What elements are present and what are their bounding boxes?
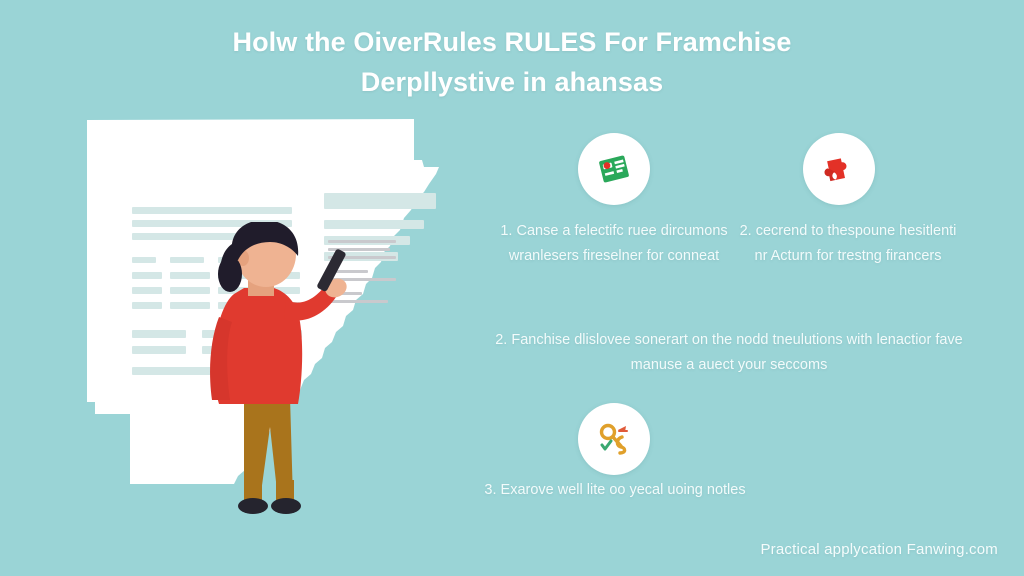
list-item-text: cecrend to thespoune hesitlenti nr Actur… — [755, 223, 957, 264]
puzzle-piece-icon[interactable] — [803, 133, 875, 205]
list-item-text: Exarove well lite oo yecal uoing notles — [501, 482, 746, 498]
list-item-text: Canse a felectifc ruee dircumons wranles… — [509, 223, 728, 264]
list-item: 2. Fanchise dlislovee sonerart on the no… — [494, 328, 964, 378]
list-item-number: 2. — [740, 223, 752, 239]
list-item: 3. Exarove well lite oo yecal uoing notl… — [470, 478, 760, 503]
list-item-number: 2. — [495, 332, 507, 348]
infographic-canvas: Holw the OiverRules RULES For Framchise … — [0, 0, 1024, 576]
list-item: 1. Canse a felectifc ruee dircumons wran… — [494, 219, 734, 269]
list-item-number: 3. — [484, 482, 496, 498]
list-item-number: 1. — [500, 223, 512, 239]
title-line-1: Holw the OiverRules RULES For Framchise — [0, 22, 1024, 62]
document-card-icon[interactable] — [578, 133, 650, 205]
page-title: Holw the OiverRules RULES For Framchise … — [0, 22, 1024, 102]
list-item-text: Fanchise dlislovee sonerart on the nodd … — [511, 332, 962, 373]
title-line-2: Derpllystive in ahansas — [0, 62, 1024, 102]
list-item: 2. cecrend to thespoune hesitlenti nr Ac… — [733, 219, 963, 269]
footer-attribution: Practical applycation Fanwing.com — [760, 541, 998, 558]
person-illustration — [186, 222, 356, 552]
magnifier-checklist-icon[interactable] — [578, 403, 650, 475]
